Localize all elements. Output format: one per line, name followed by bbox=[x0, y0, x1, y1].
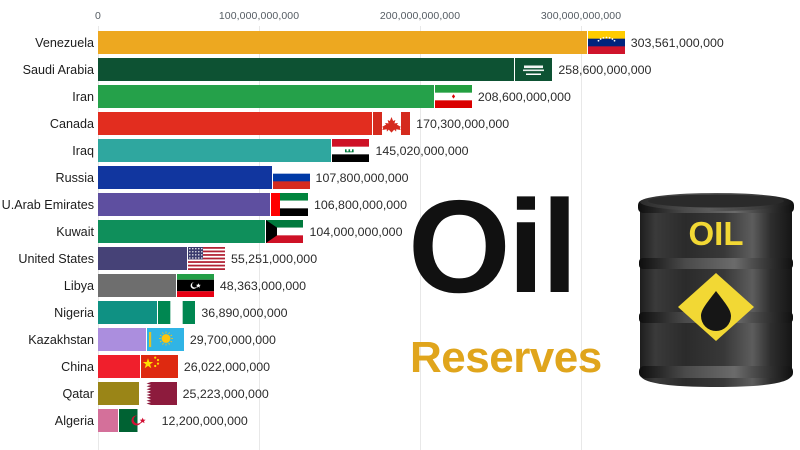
chart-title-main: Oil bbox=[408, 181, 575, 313]
bar-value-label: 208,600,000,000 bbox=[478, 90, 571, 104]
bar bbox=[98, 409, 118, 432]
barrel-oil-text: OIL bbox=[689, 215, 744, 252]
bar-value-label: 12,200,000,000 bbox=[162, 414, 248, 428]
bar bbox=[98, 301, 157, 324]
oil-barrel-icon: OIL bbox=[630, 188, 800, 392]
bar-row: Algeria 12,200,000,000 bbox=[0, 409, 800, 432]
flag-icon-algeria bbox=[119, 409, 156, 432]
bar bbox=[98, 139, 331, 162]
bar-category-label: U.Arab Emirates bbox=[2, 198, 94, 212]
bar bbox=[98, 247, 187, 270]
bar-category-label: Venezuela bbox=[35, 36, 94, 50]
bar bbox=[98, 355, 140, 378]
bar-row: Iran208,600,000,000 bbox=[0, 85, 800, 108]
bar bbox=[98, 193, 270, 216]
bar-category-label: Canada bbox=[50, 117, 94, 131]
flag-icon-qatar bbox=[140, 382, 177, 405]
bar bbox=[98, 382, 139, 405]
flag-icon-venezuela bbox=[588, 31, 625, 54]
bar bbox=[98, 166, 272, 189]
bar bbox=[98, 85, 434, 108]
bar bbox=[98, 274, 176, 297]
bar-row: Canada 170,300,000,000 bbox=[0, 112, 800, 135]
bar-category-label: Nigeria bbox=[54, 306, 94, 320]
bar-category-label: China bbox=[61, 360, 94, 374]
flag-icon-uae bbox=[271, 193, 308, 216]
bar-value-label: 170,300,000,000 bbox=[416, 117, 509, 131]
bar-category-label: Iraq bbox=[72, 144, 94, 158]
bar-value-label: 55,251,000,000 bbox=[231, 252, 317, 266]
flag-icon-kuwait bbox=[266, 220, 303, 243]
flag-icon-saudi-arabia bbox=[515, 58, 552, 81]
flag-icon-kazakhstan bbox=[147, 328, 184, 351]
bar-category-label: Iran bbox=[72, 90, 94, 104]
bar-value-label: 36,890,000,000 bbox=[201, 306, 287, 320]
flag-icon-russia bbox=[273, 166, 310, 189]
flag-icon-iraq bbox=[332, 139, 369, 162]
flag-icon-nigeria bbox=[158, 301, 195, 324]
bar bbox=[98, 328, 146, 351]
bar-category-label: Kazakhstan bbox=[28, 333, 94, 347]
bar-chart-race: 0 100,000,000,000 200,000,000,000 300,00… bbox=[0, 0, 800, 450]
flag-icon-canada bbox=[373, 112, 410, 135]
bar bbox=[98, 112, 372, 135]
bar-row: Russia107,800,000,000 bbox=[0, 166, 800, 189]
bar-value-label: 25,223,000,000 bbox=[183, 387, 269, 401]
bar bbox=[98, 220, 265, 243]
bar-category-label: Libya bbox=[64, 279, 94, 293]
bar-category-label: United States bbox=[18, 252, 94, 266]
bar-row: Iraq145,020,000,000 bbox=[0, 139, 800, 162]
bar-category-label: Algeria bbox=[55, 414, 94, 428]
bar-row: Saudi Arabia 258,600,000,000 bbox=[0, 58, 800, 81]
flag-icon-libya bbox=[177, 274, 214, 297]
bar-value-label: 29,700,000,000 bbox=[190, 333, 276, 347]
bar-row: Venezuela303,561,000,000 bbox=[0, 31, 800, 54]
bar-value-label: 258,600,000,000 bbox=[558, 63, 651, 77]
bar-value-label: 107,800,000,000 bbox=[316, 171, 409, 185]
bar-category-label: Saudi Arabia bbox=[23, 63, 94, 77]
bar-value-label: 106,800,000,000 bbox=[314, 198, 407, 212]
bar-value-label: 303,561,000,000 bbox=[631, 36, 724, 50]
bar-category-label: Kuwait bbox=[56, 225, 94, 239]
bar-value-label: 48,363,000,000 bbox=[220, 279, 306, 293]
bar-category-label: Russia bbox=[56, 171, 95, 185]
flag-icon-china bbox=[141, 355, 178, 378]
bar-value-label: 145,020,000,000 bbox=[375, 144, 468, 158]
bar-value-label: 26,022,000,000 bbox=[184, 360, 270, 374]
chart-title-sub: Reserves bbox=[410, 336, 602, 380]
flag-icon-iran bbox=[435, 85, 472, 108]
flag-icon-united-states bbox=[188, 247, 225, 270]
bar-value-label: 104,000,000,000 bbox=[309, 225, 402, 239]
bar bbox=[98, 31, 587, 54]
bar bbox=[98, 58, 514, 81]
bar-category-label: Qatar bbox=[63, 387, 95, 401]
